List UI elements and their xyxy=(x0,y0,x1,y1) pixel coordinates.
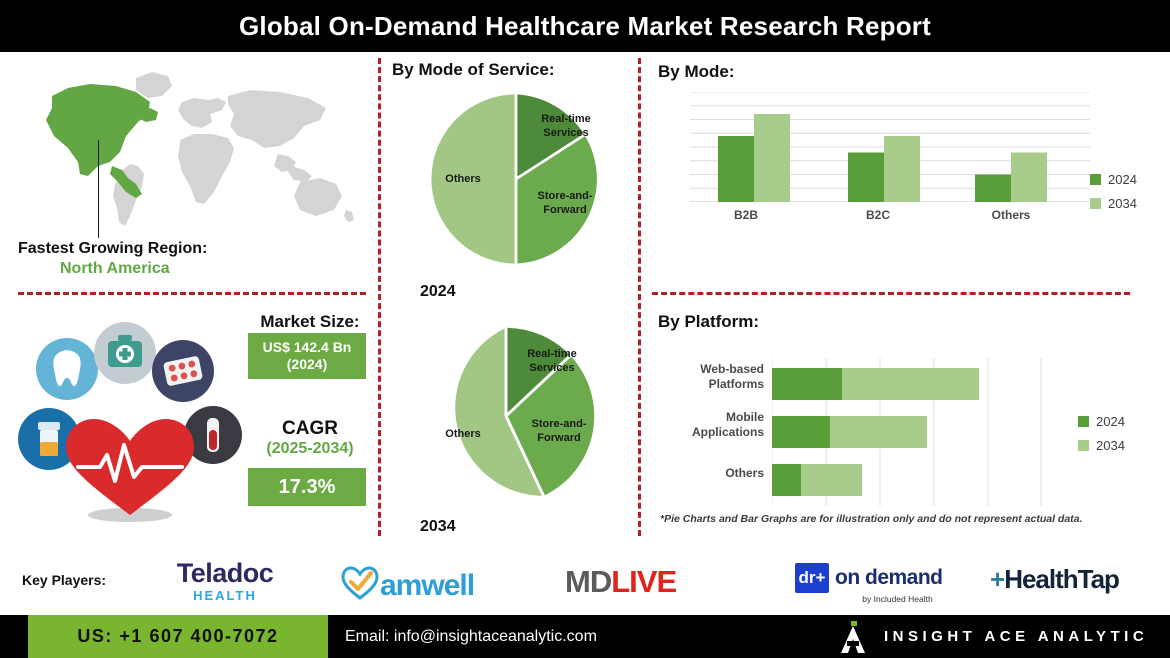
legend-label-2024: 2024 xyxy=(1096,414,1125,429)
pie-chart-2024: Real-time Services Store-and-Forward Oth… xyxy=(422,85,610,273)
pie-chart-2034-svg xyxy=(408,318,604,514)
heart-check-glyph xyxy=(340,565,380,601)
bar-b2b-2024 xyxy=(718,136,754,202)
bar-others-2034 xyxy=(1011,153,1047,203)
by-platform-cat-web: Web-based Platforms xyxy=(660,362,764,392)
legend-label-2034: 2034 xyxy=(1096,438,1125,453)
logo-dod-name: on demand xyxy=(835,566,943,590)
pie-section-title: By Mode of Service: xyxy=(392,60,555,80)
pie-slice-others xyxy=(431,94,516,263)
by-mode-cat-others: Others xyxy=(968,208,1054,222)
bar-mobile-2024 xyxy=(772,416,830,448)
bar-platform-others-2024 xyxy=(772,464,801,496)
pill-blister-glyph xyxy=(152,340,214,402)
logo-teladoc-name: Teladoc xyxy=(150,560,300,587)
logo-mdlive[interactable]: MDLIVE xyxy=(565,566,755,597)
divider-vertical-left xyxy=(378,58,381,536)
fastest-growing-region-label: Fastest Growing Region: xyxy=(18,240,358,258)
heart-check-icon xyxy=(340,565,380,606)
first-aid-kit-icon xyxy=(94,322,156,384)
market-size-year: (2024) xyxy=(287,356,327,374)
market-size-value: US$ 142.4 Bn xyxy=(263,339,352,357)
legend-swatch-2024 xyxy=(1090,174,1101,185)
by-mode-legend: 2024 2034 xyxy=(1090,172,1137,220)
bar-b2c-2024 xyxy=(848,153,884,203)
logo-teladoc-sub: HEALTH xyxy=(150,588,300,603)
medical-icons-cluster xyxy=(18,320,243,525)
logo-dod-top: dr+ on demand xyxy=(795,563,970,593)
map-other-regions xyxy=(113,72,354,226)
insight-ace-a-glyph xyxy=(838,621,868,653)
cagr-period: (2025-2034) xyxy=(240,440,380,458)
legend-swatch-2024 xyxy=(1078,416,1089,427)
by-mode-chart-svg xyxy=(690,92,1090,202)
divider-horizontal-left xyxy=(18,292,366,295)
by-platform-chart xyxy=(772,358,1042,506)
tooth-glyph xyxy=(36,338,98,400)
legend-item-2034: 2034 xyxy=(1078,438,1125,453)
world-map xyxy=(16,62,366,242)
world-map-svg xyxy=(16,62,366,242)
divider-vertical-right xyxy=(638,58,641,536)
by-platform-legend: 2024 2034 xyxy=(1078,414,1125,462)
legend-item-2034: 2034 xyxy=(1090,196,1137,211)
legend-swatch-2034 xyxy=(1078,440,1089,451)
logo-healthtap-name: HealthTap xyxy=(1004,564,1119,594)
cagr-label: CAGR xyxy=(240,418,380,440)
legend-item-2024: 2024 xyxy=(1090,172,1137,187)
fastest-growing-region: Fastest Growing Region: North America xyxy=(18,240,358,278)
tooth-icon xyxy=(36,338,98,400)
bar-others-2024 xyxy=(975,175,1011,203)
logo-healthtap[interactable]: +HealthTap xyxy=(990,566,1165,592)
bar-b2c-2034 xyxy=(884,136,920,202)
map-pointer-line xyxy=(98,140,99,238)
footer-email[interactable]: Email: info@insightaceanalytic.com xyxy=(345,615,597,658)
logo-dod-badge: dr+ xyxy=(795,563,829,593)
fastest-growing-region-value: North America xyxy=(18,260,358,278)
by-mode-title: By Mode: xyxy=(658,62,735,82)
legend-swatch-2034 xyxy=(1090,198,1101,209)
by-platform-cat-mobile: Mobile Applications xyxy=(660,410,764,440)
logo-amwell-name: amwell xyxy=(380,571,474,601)
by-mode-cat-b2c: B2C xyxy=(838,208,918,222)
pie-chart-2024-svg xyxy=(422,85,610,273)
bar-platform-others-2034 xyxy=(801,464,862,496)
logo-amwell[interactable]: amwell xyxy=(340,565,530,606)
pie-2034-year: 2034 xyxy=(420,518,456,536)
logo-teladoc[interactable]: Teladoc HEALTH xyxy=(150,560,300,603)
by-platform-title: By Platform: xyxy=(658,312,759,332)
heart-ecg-icon xyxy=(60,415,200,523)
page-title: Global On-Demand Healthcare Market Resea… xyxy=(0,0,1170,52)
bar-web-2034 xyxy=(842,368,979,400)
divider-horizontal-right xyxy=(652,292,1130,295)
logo-mdlive-live: LIVE xyxy=(611,564,676,599)
logo-healthtap-plus: + xyxy=(990,564,1004,594)
bar-web-2024 xyxy=(772,368,842,400)
chart-disclaimer: *Pie Charts and Bar Graphs are for illus… xyxy=(660,513,1130,525)
by-mode-chart xyxy=(690,92,1090,202)
footer-brand: INSIGHT ACE ANALYTIC xyxy=(838,615,1148,658)
bar-mobile-2034 xyxy=(830,416,927,448)
logo-dod-sub: by Included Health xyxy=(795,594,970,604)
first-aid-kit-glyph xyxy=(94,322,156,384)
pie-2024-year: 2024 xyxy=(420,283,456,301)
legend-item-2024: 2024 xyxy=(1078,414,1125,429)
legend-label-2024: 2024 xyxy=(1108,172,1137,187)
logo-mdlive-md: MD xyxy=(565,564,611,599)
market-size-box: US$ 142.4 Bn (2024) xyxy=(248,333,366,379)
heart-ecg-glyph xyxy=(60,415,200,523)
pie-chart-2034: Real-time Services Store-and-Forward Oth… xyxy=(408,318,604,514)
legend-label-2034: 2034 xyxy=(1108,196,1137,211)
by-platform-cat-others: Others xyxy=(660,466,764,481)
bar-b2b-2034 xyxy=(754,114,790,202)
title-bar: Global On-Demand Healthcare Market Resea… xyxy=(0,0,1170,52)
key-players-label: Key Players: xyxy=(22,572,106,588)
market-size-label: Market Size: xyxy=(240,312,380,332)
cagr-value-box: 17.3% xyxy=(248,468,366,506)
infographic-page: Global On-Demand Healthcare Market Resea… xyxy=(0,0,1170,658)
pill-blister-icon xyxy=(152,340,214,402)
by-mode-cat-b2b: B2B xyxy=(706,208,786,222)
by-platform-chart-svg xyxy=(772,358,1042,506)
footer-brand-name: INSIGHT ACE ANALYTIC xyxy=(884,628,1148,645)
insight-ace-a-logo-icon xyxy=(838,621,868,653)
footer-phone[interactable]: US: +1 607 400-7072 xyxy=(28,615,328,658)
logo-doctor-on-demand[interactable]: dr+ on demand by Included Health xyxy=(795,563,970,604)
